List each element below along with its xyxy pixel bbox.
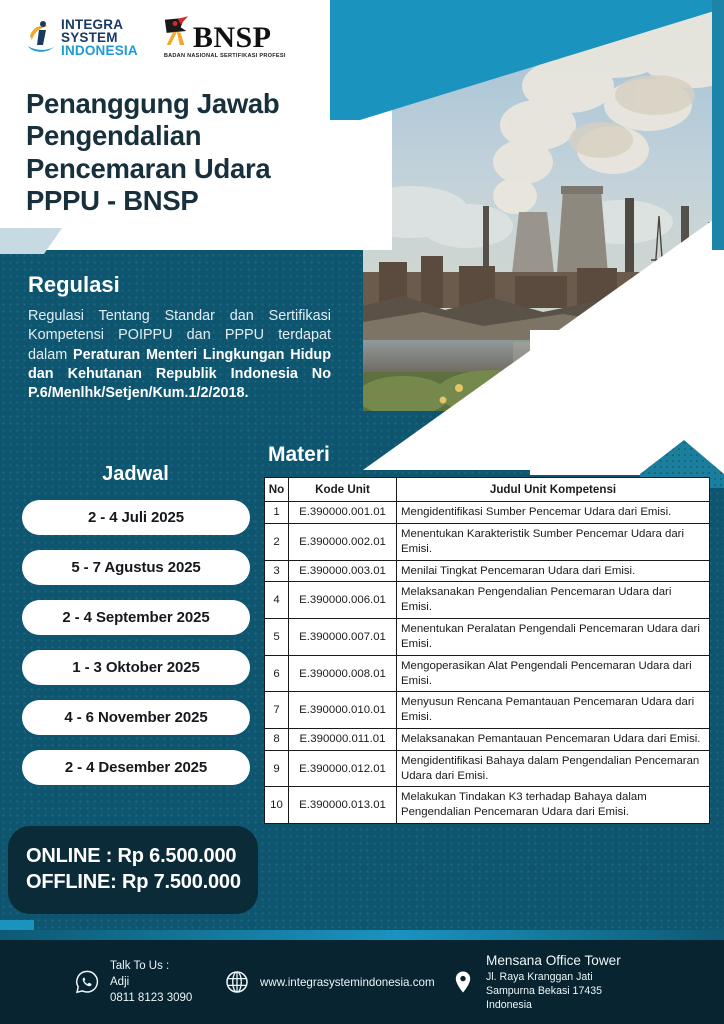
footer-address-line-1: Jl. Raya Kranggan Jati [486,971,621,985]
regulasi-section: Regulasi Regulasi Tentang Standar dan Se… [0,250,351,450]
jadwal-item[interactable]: 4 - 6 November 2025 [22,700,250,735]
cell-no: 10 [265,787,289,824]
integra-swoosh-icon [26,20,56,56]
globe-icon [224,969,250,995]
footer-address-line-2: Sampurna Bekasi 17435 [486,985,621,999]
jadwal-list: 2 - 4 Juli 20255 - 7 Agustus 20252 - 4 S… [22,500,250,800]
cell-kode: E.390000.002.01 [289,523,397,560]
cell-judul: Melaksanakan Pemantauan Pencemaran Udara… [397,729,710,751]
materi-table: No Kode Unit Judul Unit Kompetensi 1E.39… [264,477,710,824]
cell-judul: Menyusun Rencana Pemantauan Pencemaran U… [397,692,710,729]
footer-address-line-3: Indonesia [486,999,621,1013]
page-title: Penanggung Jawab Pengendalian Pencemaran… [26,88,346,218]
poster-root: INTEGRA SYSTEM INDONESIA BNSP BAD [0,0,724,1024]
footer-address: Mensana Office Tower Jl. Raya Kranggan J… [450,952,621,1013]
table-row: 8E.390000.011.01Melaksanakan Pemantauan … [265,729,710,751]
table-row: 7E.390000.010.01Menyusun Rencana Pemanta… [265,692,710,729]
footer-contact[interactable]: Talk To Us : Adji 0811 8123 3090 [74,958,192,1007]
title-line-3: Pencemaran Udara [26,153,346,185]
cell-judul: Mengidentifikasi Bahaya dalam Pengendali… [397,750,710,787]
cell-no: 4 [265,582,289,619]
footer-website[interactable]: www.integrasystemindonesia.com [224,969,435,995]
materi-heading: Materi [268,443,330,467]
price-box: ONLINE : Rp 6.500.000 OFFLINE: Rp 7.500.… [8,826,258,914]
cell-kode: E.390000.011.01 [289,729,397,751]
cell-no: 1 [265,502,289,524]
table-row: 6E.390000.008.01Mengoperasikan Alat Peng… [265,655,710,692]
cell-kode: E.390000.010.01 [289,692,397,729]
cell-kode: E.390000.008.01 [289,655,397,692]
table-row: 9E.390000.012.01Mengidentifikasi Bahaya … [265,750,710,787]
table-row: 4E.390000.006.01Melaksanakan Pengendalia… [265,582,710,619]
cell-kode: E.390000.007.01 [289,619,397,656]
footer-contact-phone[interactable]: 0811 8123 3090 [110,990,192,1006]
integra-wordmark: INTEGRA SYSTEM INDONESIA [61,18,138,57]
price-online: ONLINE : Rp 6.500.000 [26,844,258,870]
right-edge-cyan-strip [712,0,724,250]
bnsp-wordmark: BNSP [193,24,272,51]
cell-judul: Mengidentifikasi Sumber Pencemar Udara d… [397,502,710,524]
bnsp-flag-icon [162,16,190,51]
title-line-1: Penanggung Jawab [26,88,346,120]
regulasi-heading: Regulasi [28,272,331,298]
cell-no: 6 [265,655,289,692]
logo-integra-system-indonesia: INTEGRA SYSTEM INDONESIA [26,18,138,57]
title-line-4: PPPU - BNSP [26,185,346,217]
price-offline: OFFLINE: Rp 7.500.000 [26,870,258,896]
cell-judul: Mengoperasikan Alat Pengendali Pencemara… [397,655,710,692]
cell-kode: E.390000.012.01 [289,750,397,787]
logo-line-1: INTEGRA [61,18,138,31]
cell-kode: E.390000.013.01 [289,787,397,824]
table-row: 10E.390000.013.01Melakukan Tindakan K3 t… [265,787,710,824]
table-row: 5E.390000.007.01Menentukan Peralatan Pen… [265,619,710,656]
jadwal-item[interactable]: 5 - 7 Agustus 2025 [22,550,250,585]
column-header-kode-unit: Kode Unit [289,478,397,502]
cell-no: 2 [265,523,289,560]
logo-line-3: INDONESIA [61,44,138,57]
footer-talk-label: Talk To Us : [110,958,192,974]
cell-no: 7 [265,692,289,729]
location-pin-icon [450,969,476,995]
cell-no: 5 [265,619,289,656]
jadwal-item[interactable]: 1 - 3 Oktober 2025 [22,650,250,685]
cell-judul: Melakukan Tindakan K3 terhadap Bahaya da… [397,787,710,824]
bnsp-subtitle: BADAN NASIONAL SERTIFIKASI PROFESI [164,53,286,59]
jadwal-heading: Jadwal [28,463,243,486]
logo-bnsp: BNSP BADAN NASIONAL SERTIFIKASI PROFESI [162,16,286,59]
column-header-judul: Judul Unit Kompetensi [397,478,710,502]
cell-kode: E.390000.001.01 [289,502,397,524]
cell-no: 3 [265,560,289,582]
regulasi-body: Regulasi Tentang Standar dan Sertifikasi… [28,307,331,403]
cell-judul: Melaksanakan Pengendalian Pencemaran Uda… [397,582,710,619]
cell-judul: Menentukan Karakteristik Sumber Pencemar… [397,523,710,560]
cell-kode: E.390000.006.01 [289,582,397,619]
table-row: 2E.390000.002.01Menentukan Karakteristik… [265,523,710,560]
cell-judul: Menentukan Peralatan Pengendali Pencemar… [397,619,710,656]
jadwal-item[interactable]: 2 - 4 September 2025 [22,600,250,635]
whatsapp-icon [74,969,100,995]
cell-kode: E.390000.003.01 [289,560,397,582]
jadwal-item[interactable]: 2 - 4 Juli 2025 [22,500,250,535]
cell-no: 9 [265,750,289,787]
table-row: 1E.390000.001.01Mengidentifikasi Sumber … [265,502,710,524]
logo-row: INTEGRA SYSTEM INDONESIA BNSP BAD [26,16,286,59]
column-header-no: No [265,478,289,502]
regulasi-text-bold: Peraturan Menteri Lingkungan Hidup dan K… [28,347,331,402]
footer-contact-name: Adji [110,974,192,990]
cell-no: 8 [265,729,289,751]
jadwal-item[interactable]: 2 - 4 Desember 2025 [22,750,250,785]
title-line-2: Pengendalian [26,120,346,152]
footer: Talk To Us : Adji 0811 8123 3090 www.int… [0,940,724,1024]
footer-url[interactable]: www.integrasystemindonesia.com [260,976,435,989]
footer-address-title: Mensana Office Tower [486,952,621,970]
footer-divider [0,930,724,940]
table-header-row: No Kode Unit Judul Unit Kompetensi [265,478,710,502]
cell-judul: Menilai Tingkat Pencemaran Udara dari Em… [397,560,710,582]
table-row: 3E.390000.003.01Menilai Tingkat Pencemar… [265,560,710,582]
